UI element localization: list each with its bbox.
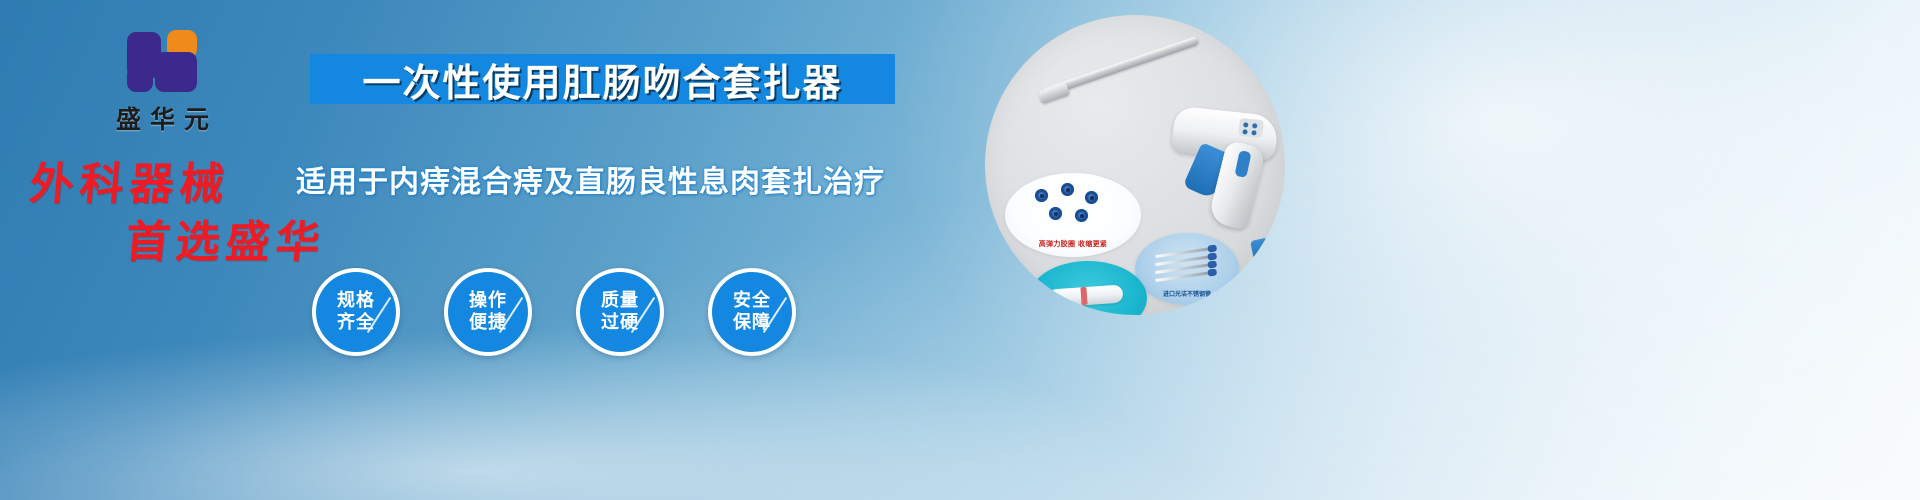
feature-badge-3-line-1: 质量 <box>601 290 639 312</box>
feature-badge-2-line-1: 操作 <box>469 290 507 312</box>
background-glow <box>0 300 1920 500</box>
logo-wordmark: 盛华元 <box>62 100 272 136</box>
ligation-ring-icon <box>1085 191 1098 204</box>
feature-badge-2[interactable]: 操作 便捷 <box>444 268 532 356</box>
subheadline: 适用于内痔混合痔及直肠良性息肉套扎治疗 <box>296 158 916 200</box>
inset-rings-caption: 高弹力胶圈 收缩更紧 <box>1005 239 1141 249</box>
promo-banner: 盛华元 外科器械 首选盛华 一次性使用肛肠吻合套扎器 适用于内痔混合痔及直肠良性… <box>0 0 1920 500</box>
brand-logo[interactable]: 盛华元 <box>62 26 272 136</box>
feature-badge-4-line-1: 安全 <box>733 290 771 312</box>
feature-badge-4[interactable]: 安全 保障 <box>708 268 796 356</box>
feature-badge-1-line-1: 规格 <box>337 290 375 312</box>
inset-tubes-caption: 进口光洁不锈钢管 <box>1135 289 1239 298</box>
device-nozzle <box>1250 237 1274 270</box>
headline-bar: 一次性使用肛肠吻合套扎器 <box>310 54 895 104</box>
feature-badge-2-line-2: 便捷 <box>469 312 507 334</box>
ligation-ring-icon <box>1061 183 1074 196</box>
feature-badge-4-line-2: 保障 <box>733 312 771 334</box>
device-tip <box>1038 82 1071 104</box>
ligation-ring-icon <box>1035 189 1048 202</box>
feature-badge-3[interactable]: 质量 过硬 <box>576 268 664 356</box>
inset-photo-rings: 高弹力胶圈 收缩更紧 <box>1005 173 1141 257</box>
logo-mark-icon <box>121 26 213 94</box>
feature-badge-list: 规格 齐全 操作 便捷 质量 过硬 安全 保障 <box>312 268 852 364</box>
headline-text: 一次性使用肛肠吻合套扎器 <box>362 52 842 107</box>
slogan-line-1: 外科器械 <box>27 148 233 212</box>
product-photo: 高弹力胶圈 收缩更紧 进口光洁不锈钢管 <box>985 15 1285 315</box>
ligation-ring-icon <box>1075 209 1088 222</box>
subheadline-text: 适用于内痔混合痔及直肠良性息肉套扎治疗 <box>296 157 885 201</box>
ligation-ring-icon <box>1049 207 1062 220</box>
feature-badge-1-line-2: 齐全 <box>337 312 375 334</box>
feature-badge-1[interactable]: 规格 齐全 <box>312 268 400 356</box>
slogan-line-2: 首选盛华 <box>123 206 329 270</box>
feature-badge-3-line-2: 过硬 <box>601 312 639 334</box>
inset-photo-anoscope <box>1029 261 1147 315</box>
device-buttons-icon <box>1238 118 1264 138</box>
inset-photo-tubes: 进口光洁不锈钢管 <box>1135 233 1239 305</box>
anoscope-band <box>1080 287 1087 305</box>
